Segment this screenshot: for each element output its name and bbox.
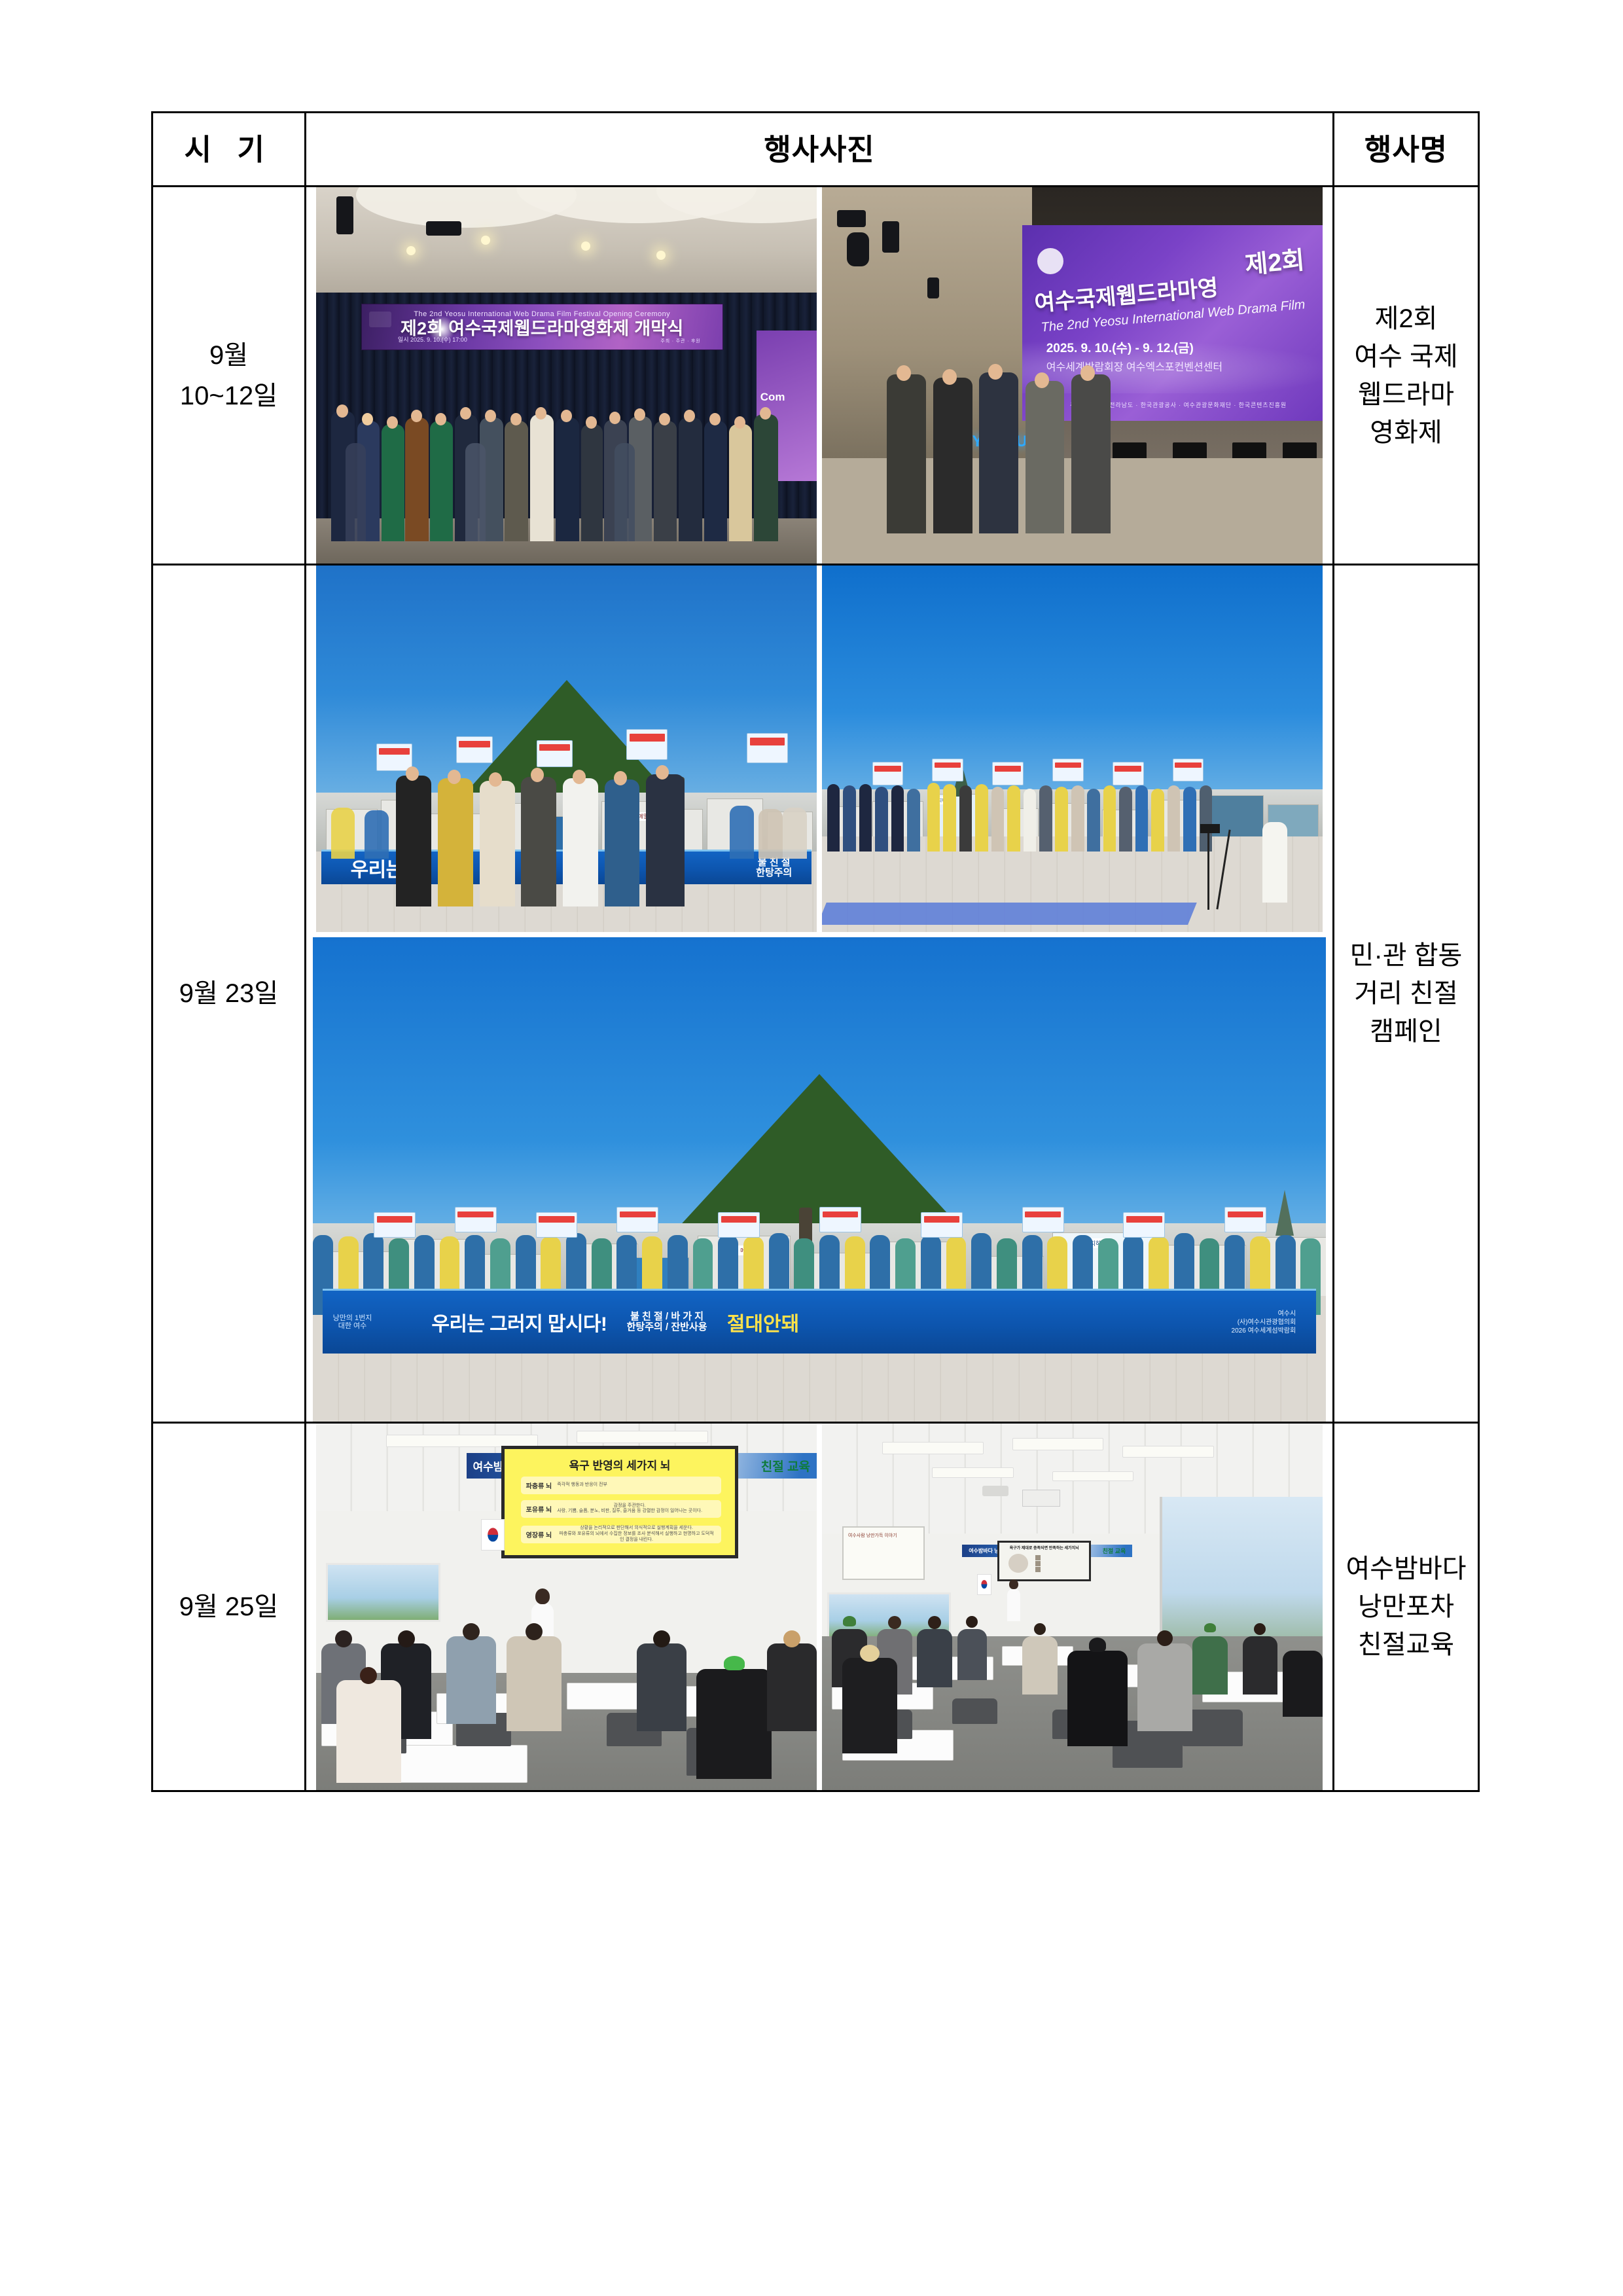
slide-row-label: 파충류 뇌 — [526, 1480, 552, 1490]
screen-line-1: 제2회 — [1243, 240, 1306, 281]
wall-poster-text: 여수사람 낭만가득 이야기 — [848, 1533, 897, 1539]
header-cell-photo: 행사사진 — [306, 113, 1334, 187]
cell-photos-row1: The 2nd Yeosu International Web Drama Fi… — [306, 187, 1334, 565]
cell-photos-row2: 메밀식당 우리는 불 친 절 한탕주의 — [306, 565, 1334, 1423]
time-label-row3: 9월 25일 — [153, 1587, 304, 1627]
photo-festival-stage-group: 제2회 여수국제웹드라마영 The 2nd Yeosu Internationa… — [822, 187, 1323, 564]
table-row: 9월 23일 — [152, 565, 1479, 1423]
photo-campaign-officials: 메밀식당 우리는 불 친 절 한탕주의 — [316, 565, 817, 932]
banner-sponsor-logos: 주최 · 주관 · 후원 — [660, 338, 700, 344]
slide-row-desc: 감정을 주관한다. 사랑, 기쁨, 슬픔, 분노, 비판, 질투, 즐거움 등 … — [557, 1503, 702, 1515]
cell-name-row2: 민·관 합동 거리 친절 캠페인 — [1334, 565, 1479, 1423]
screen-line-4: 2025. 9. 10.(수) - 9. 12.(금) — [1046, 338, 1194, 356]
speaker-person — [1262, 822, 1287, 903]
photo-kindness-education-classroom: 여수사람 낭만가득 이야기 여수밤바다 낭만포차 친절 교육 욕구가 제대로 충… — [822, 1424, 1323, 1790]
banner-subtext: 일시 2025. 9. 10.(수) 17:00 — [398, 335, 467, 344]
stage-banner: The 2nd Yeosu International Web Drama Fi… — [361, 304, 723, 350]
event-name-row2: 민·관 합동 거리 친절 캠페인 — [1334, 937, 1478, 1050]
wall-banner-right-text: 친절 교육 — [761, 1457, 810, 1475]
camera — [1200, 824, 1220, 833]
table-header-row: 시 기 행사사진 행사명 — [152, 113, 1479, 187]
report-page: 시 기 행사사진 행사명 9월 10~12일 — [0, 0, 1623, 2296]
cell-time-row2: 9월 23일 — [152, 565, 306, 1423]
projector — [982, 1486, 1008, 1496]
cell-time-row1: 9월 10~12일 — [152, 187, 306, 565]
presentation-slide: 욕구가 제대로 충족되면 만족하는 세가지뇌 — [997, 1541, 1092, 1581]
wall-poster: 여수사람 낭만가득 이야기 — [842, 1526, 925, 1580]
event-name-row1: 제2회 여수 국제 웹드라마 영화제 — [1334, 300, 1478, 452]
time-label-row2: 9월 23일 — [153, 973, 304, 1014]
slide-row-desc: 즉각적 행동과 반응이 전부 — [557, 1482, 607, 1488]
campaign-main-banner: 낭만의 1번지 대한 여수 우리는 그러지 맙시다! 불 친 절 / 바 가 지… — [323, 1289, 1315, 1354]
photo-campaign-plaza-wide: 지지하우스 — [822, 565, 1323, 932]
campaign-banner-right-1: 불 친 절 — [756, 857, 792, 868]
banner-slogan: 우리는 그러지 맙시다! — [431, 1308, 607, 1336]
table-row: 9월 25일 여수밤바다 낭만포차 친 — [152, 1423, 1479, 1791]
cell-photos-row3: 여수밤바다 낭만포차 친절 교육 욕구 반영의 세가지 뇌 파충류 뇌 즉각적 … — [306, 1423, 1334, 1791]
photo-campaign-group-banner: 메밀식당 지지하우스 — [313, 937, 1326, 1422]
campaign-banner-right-2: 한탕주의 — [756, 868, 792, 878]
slide-row-desc: 상황을 논리적으로 판단해서 의식적으로 실행계획을 세운다. 파충류와 포유류… — [557, 1526, 716, 1543]
header-cell-time: 시 기 — [152, 113, 306, 187]
cell-name-row1: 제2회 여수 국제 웹드라마 영화제 — [1334, 187, 1479, 565]
cell-name-row3: 여수밤바다 낭만포차 친절교육 — [1334, 1423, 1479, 1791]
photo-kindness-education-lecture: 여수밤바다 낭만포차 친절 교육 욕구 반영의 세가지 뇌 파충류 뇌 즉각적 … — [316, 1424, 817, 1790]
banner-mid-line-2: 한탕주의 / 잔반사용 — [627, 1322, 707, 1333]
banner-mid-line-1: 불 친 절 / 바 가 지 — [627, 1312, 707, 1322]
event-name-row3: 여수밤바다 낭만포차 친절교육 — [1334, 1550, 1478, 1664]
group-of-people — [326, 383, 806, 541]
photo-opening-ceremony-group: The 2nd Yeosu International Web Drama Fi… — [316, 187, 817, 564]
ceiling — [316, 187, 817, 300]
time-label-row1: 9월 10~12일 — [153, 335, 304, 416]
table-row: 9월 10~12일 — [152, 187, 1479, 565]
header-label-time: 시 기 — [153, 135, 304, 164]
slide-title: 욕구 반영의 세가지 뇌 — [505, 1456, 735, 1473]
banner-left-logo-text: 낭만의 1번지 대한 여수 — [333, 1314, 372, 1331]
korean-flag — [977, 1574, 991, 1595]
banner-english-text: The 2nd Yeosu International Web Drama Fi… — [362, 310, 722, 318]
wall-banner-right-text: 친절 교육 — [1103, 1547, 1126, 1555]
slide-row-label: 영장류 뇌 — [526, 1530, 552, 1539]
cell-time-row3: 9월 25일 — [152, 1423, 306, 1791]
header-label-name: 행사명 — [1334, 135, 1478, 164]
background-participants — [326, 785, 806, 859]
event-report-table: 시 기 행사사진 행사명 9월 10~12일 — [151, 111, 1480, 1792]
slide-title: 욕구가 제대로 충족되면 만족하는 세가지뇌 — [999, 1545, 1090, 1551]
instructor — [1007, 1588, 1020, 1621]
slide-row-label: 포유류 뇌 — [526, 1504, 552, 1514]
five-men-group — [887, 361, 1117, 534]
campaign-participants — [827, 778, 1228, 852]
header-cell-name: 행사명 — [1334, 113, 1479, 187]
header-label-photo: 행사사진 — [306, 135, 1332, 164]
air-conditioner — [1022, 1490, 1060, 1507]
banner-logo-2: (사)여수시관광협의회 — [1232, 1318, 1296, 1327]
banner-accent-text: 절대안돼 — [727, 1308, 799, 1336]
presentation-slide: 욕구 반영의 세가지 뇌 파충류 뇌 즉각적 행동과 반응이 전부 포유류 뇌 … — [501, 1446, 738, 1558]
banner-logo-3: 2026 여수세계섬박람회 — [1232, 1327, 1296, 1335]
korean-flag — [481, 1519, 505, 1551]
banner-logo-1: 여수시 — [1232, 1310, 1296, 1318]
